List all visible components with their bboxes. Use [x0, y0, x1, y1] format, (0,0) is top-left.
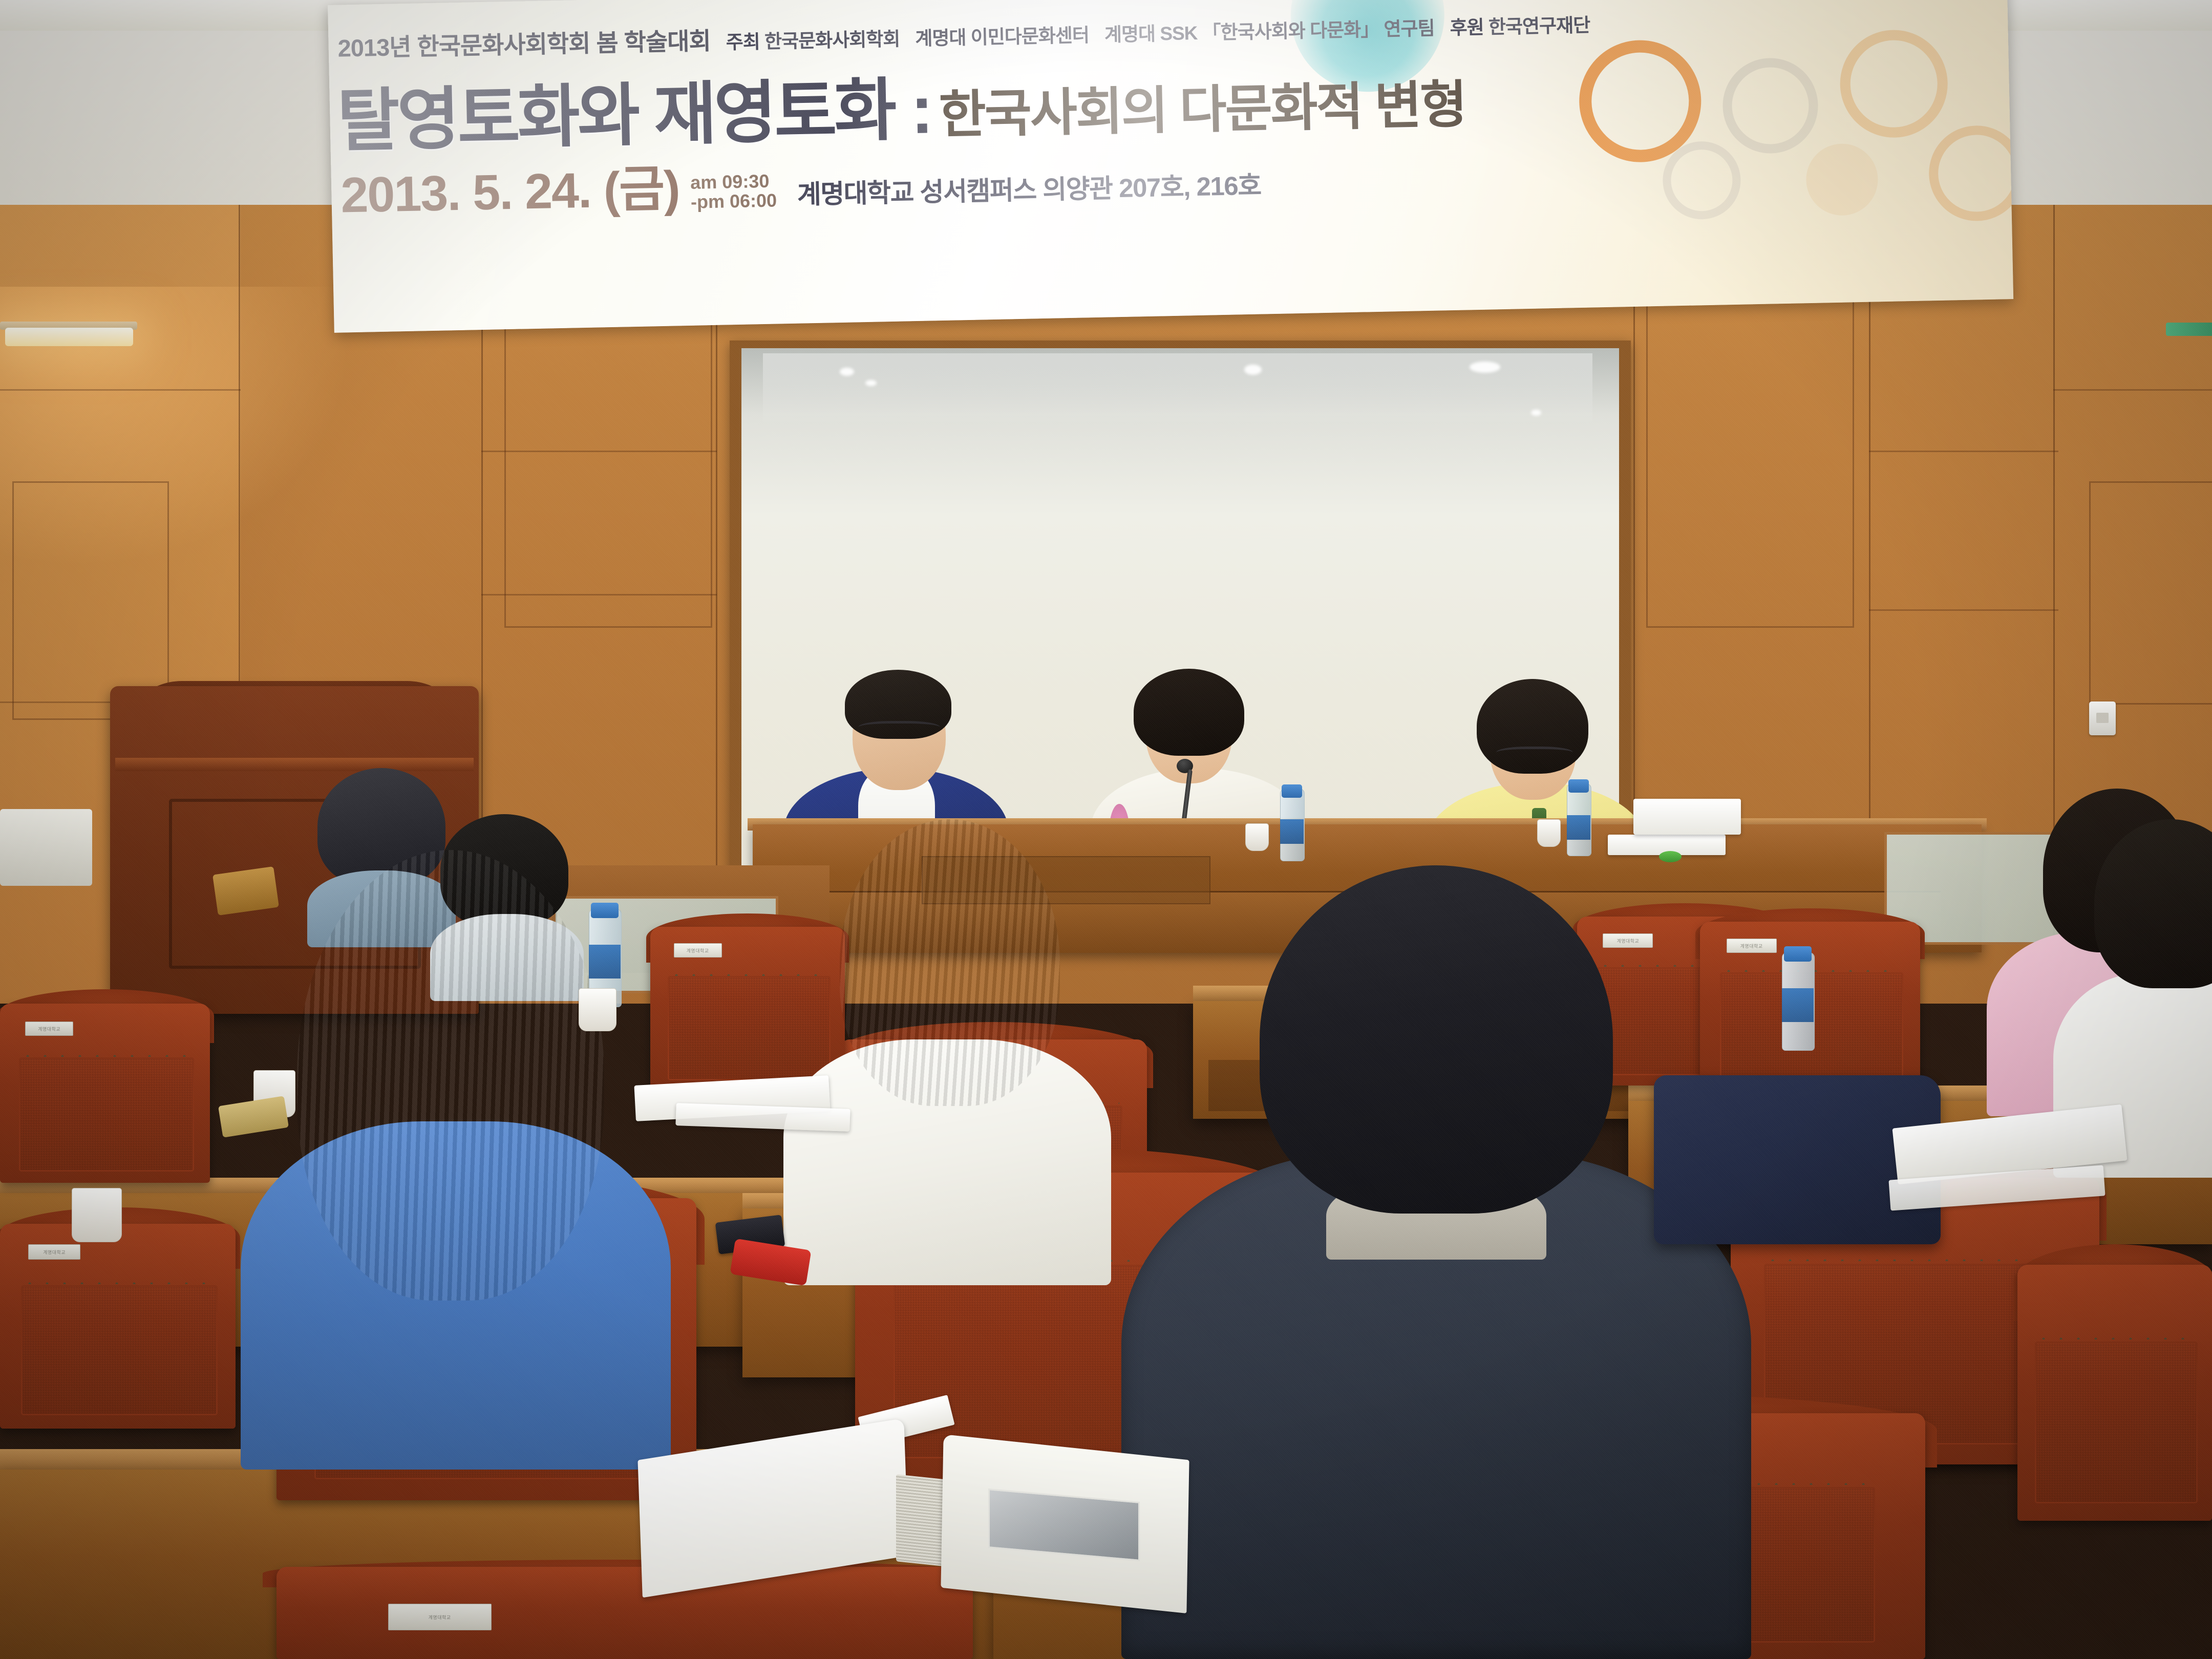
- screen-glint: [1244, 365, 1262, 375]
- green-marker: [1659, 851, 1682, 862]
- banner-host-3: 후원 한국연구재단: [1450, 10, 1590, 40]
- banner-host-2: 계명대 SSK 「한국사회와 다문화」 연구팀: [1104, 13, 1435, 47]
- banner-orange-ring: [1578, 39, 1703, 163]
- chair-asset-tag: 계명대학교: [388, 1604, 492, 1630]
- chair-asset-tag: 계명대학교: [674, 943, 722, 958]
- audience-mid-center-hair: [840, 819, 1060, 1106]
- banner-tan-ring: [1839, 29, 1949, 139]
- screen-glint: [1531, 410, 1541, 416]
- screen-glint: [865, 380, 877, 386]
- wall-seam: [0, 389, 241, 391]
- wall-panel-inset: [12, 481, 169, 720]
- banner-time: am 09:30 -pm 06:00: [690, 172, 777, 220]
- chair[interactable]: 계명대학교: [0, 1004, 210, 1183]
- chair-seatback: [21, 1285, 217, 1415]
- conference-banner: 2013년 한국문화사회학회 봄 학술대회 주최 한국문화사회학회 계명대 이민…: [328, 0, 2013, 333]
- screen-glint: [840, 368, 854, 376]
- water-bottle-cap: [1784, 946, 1812, 962]
- audience-front-center-hair: [1260, 865, 1613, 1214]
- projection-screen-gloss: [763, 353, 1592, 425]
- white-equipment-box: [0, 809, 92, 886]
- banner-gray-ring: [1662, 141, 1741, 220]
- chair-stud-row: [19, 1054, 191, 1057]
- audience-front-center-suit: [1121, 865, 1751, 1659]
- chair-seatback: [19, 1057, 194, 1172]
- wall-seam: [1869, 451, 2058, 452]
- banner-tan-disc: [1805, 143, 1879, 216]
- water-bottle-cap: [591, 903, 619, 918]
- banner-orange-ring: [1928, 125, 2013, 222]
- audience-right-white-hair: [2094, 819, 2212, 988]
- conference-room-photo: 2013년 한국문화사회학회 봄 학술대회 주최 한국문화사회학회 계명대 이민…: [0, 0, 2212, 1659]
- chair-asset-tag: 계명대학교: [28, 1244, 80, 1260]
- paper-cup: [579, 988, 616, 1031]
- banner-gray-ring: [1722, 57, 1819, 155]
- banner-host-0: 주최 한국문화사회학회: [726, 24, 900, 55]
- water-bottle-cap: [1282, 784, 1302, 798]
- chair[interactable]: 계명대학교: [0, 1224, 236, 1429]
- exit-indicator-light: [2166, 323, 2212, 336]
- banner-date: 2013. 5. 24. (금): [340, 147, 680, 226]
- booklet-left-page: [637, 1418, 908, 1598]
- wall-seam: [2053, 389, 2212, 391]
- audience-mid-center: [783, 819, 1111, 1280]
- wall-light-fixture: [5, 328, 133, 346]
- document-stack: [1633, 799, 1741, 835]
- banner-organizer-line: 2013년 한국문화사회학회 봄 학술대회: [337, 21, 711, 64]
- chair-stud-row: [1764, 1258, 2066, 1261]
- chair-stud-row: [2035, 1336, 2195, 1339]
- screen-glint: [1470, 361, 1500, 373]
- wall-panel-inset: [2089, 481, 2212, 705]
- light-switch-rocker[interactable]: [2096, 713, 2109, 723]
- chair[interactable]: [2017, 1265, 2212, 1521]
- paper-cup: [72, 1188, 122, 1242]
- chair-stud-row: [21, 1281, 214, 1284]
- banner-venue: 계명대학교 성서캠퍼스 의양관 207호, 216호: [788, 164, 1261, 218]
- chair-seatback: [2035, 1342, 2198, 1503]
- panelist-1-glasses-icon: [858, 721, 940, 737]
- water-bottle-cap: [1568, 779, 1589, 793]
- water-bottle-label: [1782, 988, 1814, 1022]
- wall-seam: [1869, 609, 2058, 611]
- chair-asset-tag: 계명대학교: [25, 1022, 73, 1036]
- water-bottle-label: [1567, 815, 1590, 840]
- panelist-2-hair: [1134, 669, 1244, 756]
- water-bottle-label: [1280, 819, 1304, 844]
- open-booklet[interactable]: [640, 1434, 1188, 1598]
- banner-time-end: -pm 06:00: [691, 190, 777, 211]
- paper-cup: [1537, 819, 1561, 847]
- banner-title-sub: 한국사회의 다문화적 변형: [938, 62, 1466, 147]
- banner-host-1: 계명대 이민다문화센터: [915, 19, 1090, 51]
- water-bottle-label: [589, 945, 621, 979]
- paper-cup: [1245, 823, 1269, 851]
- audience-mid-left-hair: [297, 850, 604, 1301]
- banner-time-start: am 09:30: [690, 172, 777, 193]
- panelist-3-glasses-icon: [1496, 747, 1573, 761]
